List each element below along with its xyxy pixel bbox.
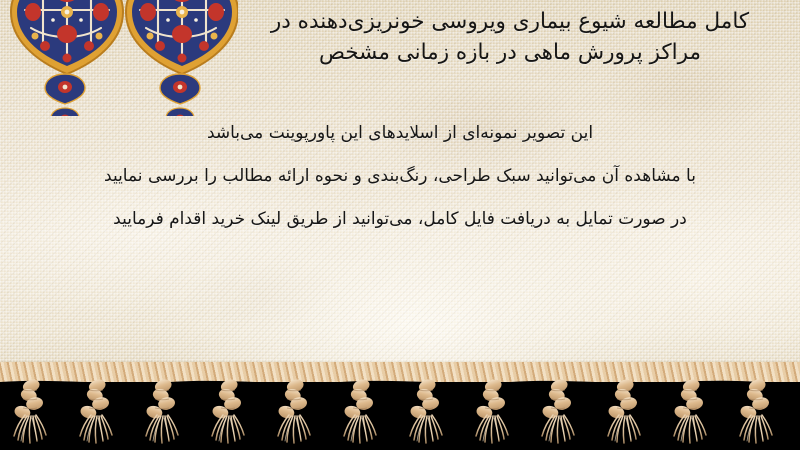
slide-title: کامل مطالعه شیوع بیماری ویروسی خونریزی‌د… [230,6,790,68]
carpet-fringe [0,352,800,450]
body-line-2: با مشاهده آن می‌توانید سبک طراحی، رنگ‌بن… [0,155,800,198]
presentation-slide: کامل مطالعه شیوع بیماری ویروسی خونریزی‌د… [0,0,800,450]
slide-title-line-2: مراکز پرورش ماهی در بازه زمانی مشخص [319,40,701,65]
body-line-1: این تصویر نمونه‌ای از اسلایدهای این پاور… [0,112,800,155]
fringe-tassels-icon [0,352,800,450]
slide-body-text: این تصویر نمونه‌ای از اسلایدهای این پاور… [0,112,800,241]
slide-text-layer: کامل مطالعه شیوع بیماری ویروسی خونریزی‌د… [0,0,800,378]
body-line-3: در صورت تمایل به دریافت فایل کامل، می‌تو… [0,198,800,241]
slide-title-line-1: کامل مطالعه شیوع بیماری ویروسی خونریزی‌د… [271,9,749,34]
